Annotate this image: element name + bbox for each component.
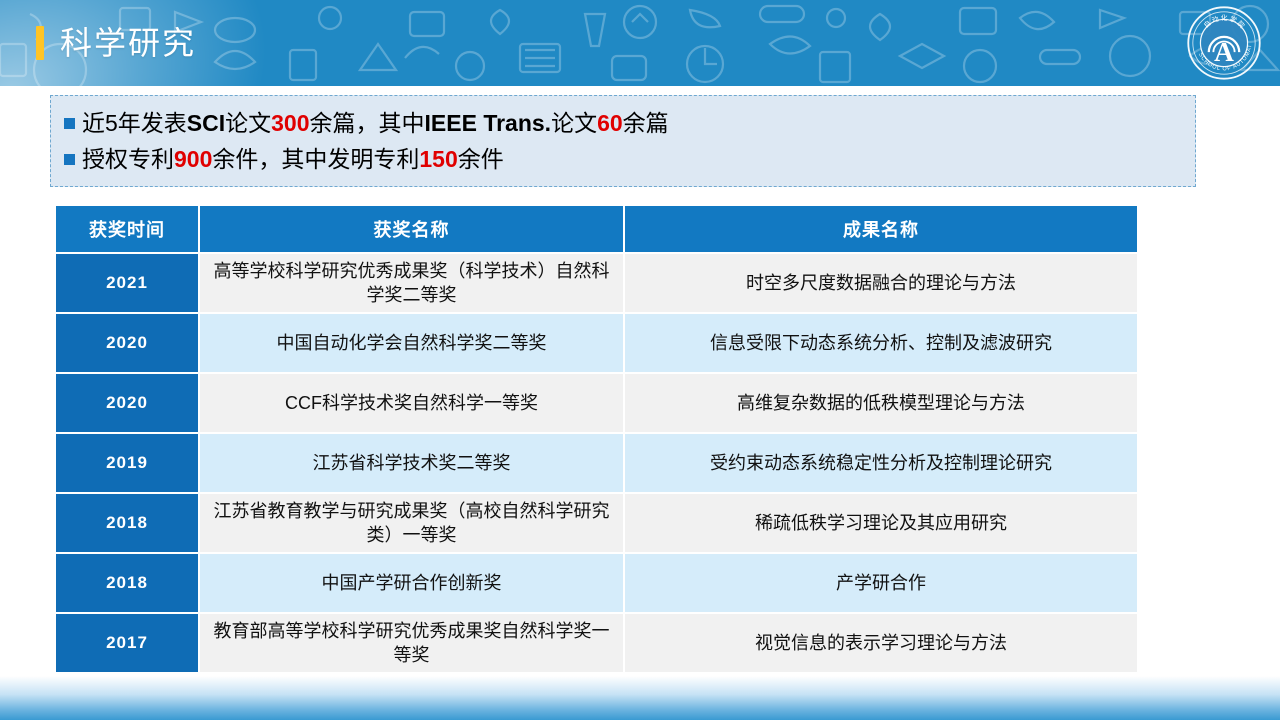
text-run: 年发表 xyxy=(118,110,187,136)
text-run: 900 xyxy=(174,146,212,172)
text-run: 近 xyxy=(82,110,105,136)
text-run: 余件，其中发明专利 xyxy=(212,146,419,172)
cell-year: 2021 xyxy=(56,254,198,312)
text-run: 余篇，其中 xyxy=(310,110,425,136)
table-row: 2021高等学校科学研究优秀成果奖（科学技术）自然科学奖二等奖时空多尺度数据融合… xyxy=(56,254,1137,312)
text-run: 论文 xyxy=(225,110,271,136)
cell-achievement: 稀疏低秩学习理论及其应用研究 xyxy=(625,494,1137,552)
text-run: 授权专利 xyxy=(82,146,174,172)
column-header-year: 获奖时间 xyxy=(56,206,198,252)
callout-line-1: 近5年发表SCI论文300余篇，其中IEEE Trans.论文60余篇 xyxy=(82,105,669,141)
text-run: 余篇 xyxy=(623,110,669,136)
cell-year: 2017 xyxy=(56,614,198,672)
slide-header: 科学研究 A 自动化学院 SCHOOL OF AUTOMATION xyxy=(0,0,1280,86)
callout-bullet-line: 近5年发表SCI论文300余篇，其中IEEE Trans.论文60余篇 xyxy=(61,105,1195,141)
title-accent-bar xyxy=(36,26,44,60)
cell-year: 2019 xyxy=(56,434,198,492)
cell-award-name: CCF科学技术奖自然科学一等奖 xyxy=(200,374,623,432)
table-row: 2020中国自动化学会自然科学奖二等奖信息受限下动态系统分析、控制及滤波研究 xyxy=(56,314,1137,372)
summary-callout-box: 近5年发表SCI论文300余篇，其中IEEE Trans.论文60余篇 授权专利… xyxy=(50,95,1196,187)
table-row: 2018江苏省教育教学与研究成果奖（高校自然科学研究类）一等奖稀疏低秩学习理论及… xyxy=(56,494,1137,552)
cell-achievement: 产学研合作 xyxy=(625,554,1137,612)
cell-award-name: 高等学校科学研究优秀成果奖（科学技术）自然科学奖二等奖 xyxy=(200,254,623,312)
text-run: 60 xyxy=(597,110,623,136)
slide-footer-gradient xyxy=(0,676,1280,720)
table-row: 2020CCF科学技术奖自然科学一等奖高维复杂数据的低秩模型理论与方法 xyxy=(56,374,1137,432)
cell-award-name: 江苏省科学技术奖二等奖 xyxy=(200,434,623,492)
cell-achievement: 信息受限下动态系统分析、控制及滤波研究 xyxy=(625,314,1137,372)
page-title-group: 科学研究 xyxy=(36,18,196,68)
text-run: IEEE Trans. xyxy=(425,110,552,136)
column-header-achievement: 成果名称 xyxy=(625,206,1137,252)
cell-year: 2020 xyxy=(56,314,198,372)
cell-achievement: 时空多尺度数据融合的理论与方法 xyxy=(625,254,1137,312)
bullet-square-icon xyxy=(64,154,75,165)
cell-achievement: 高维复杂数据的低秩模型理论与方法 xyxy=(625,374,1137,432)
column-header-award-name: 获奖名称 xyxy=(200,206,623,252)
cell-award-name: 中国自动化学会自然科学奖二等奖 xyxy=(200,314,623,372)
callout-bullet-line: 授权专利900余件，其中发明专利150余件 xyxy=(61,141,1195,177)
awards-table-body: 2021高等学校科学研究优秀成果奖（科学技术）自然科学奖二等奖时空多尺度数据融合… xyxy=(56,254,1137,672)
table-header-row: 获奖时间 获奖名称 成果名称 xyxy=(56,206,1137,252)
callout-line-2: 授权专利900余件，其中发明专利150余件 xyxy=(82,141,504,177)
cell-year: 2018 xyxy=(56,494,198,552)
cell-achievement: 视觉信息的表示学习理论与方法 xyxy=(625,614,1137,672)
table-row: 2017教育部高等学校科学研究优秀成果奖自然科学奖一等奖视觉信息的表示学习理论与… xyxy=(56,614,1137,672)
table-row: 2019江苏省科学技术奖二等奖受约束动态系统稳定性分析及控制理论研究 xyxy=(56,434,1137,492)
svg-text:A: A xyxy=(1214,37,1234,67)
text-run: SCI xyxy=(187,110,225,136)
text-run: 300 xyxy=(271,110,309,136)
text-run: 论文 xyxy=(551,110,597,136)
cell-year: 2018 xyxy=(56,554,198,612)
text-run: 5 xyxy=(105,110,118,136)
cell-award-name: 中国产学研合作创新奖 xyxy=(200,554,623,612)
bullet-square-icon xyxy=(64,118,75,129)
awards-table: 获奖时间 获奖名称 成果名称 2021高等学校科学研究优秀成果奖（科学技术）自然… xyxy=(54,204,1139,674)
cell-award-name: 江苏省教育教学与研究成果奖（高校自然科学研究类）一等奖 xyxy=(200,494,623,552)
text-run: 余件 xyxy=(458,146,504,172)
cell-achievement: 受约束动态系统稳定性分析及控制理论研究 xyxy=(625,434,1137,492)
cell-award-name: 教育部高等学校科学研究优秀成果奖自然科学奖一等奖 xyxy=(200,614,623,672)
slide-root: 科学研究 A 自动化学院 SCHOOL OF AUTOMATION 近5年发表S… xyxy=(0,0,1280,720)
page-title: 科学研究 xyxy=(60,26,196,60)
text-run: 150 xyxy=(419,146,457,172)
school-of-automation-logo: A 自动化学院 SCHOOL OF AUTOMATION xyxy=(1186,5,1262,81)
table-row: 2018中国产学研合作创新奖产学研合作 xyxy=(56,554,1137,612)
cell-year: 2020 xyxy=(56,374,198,432)
